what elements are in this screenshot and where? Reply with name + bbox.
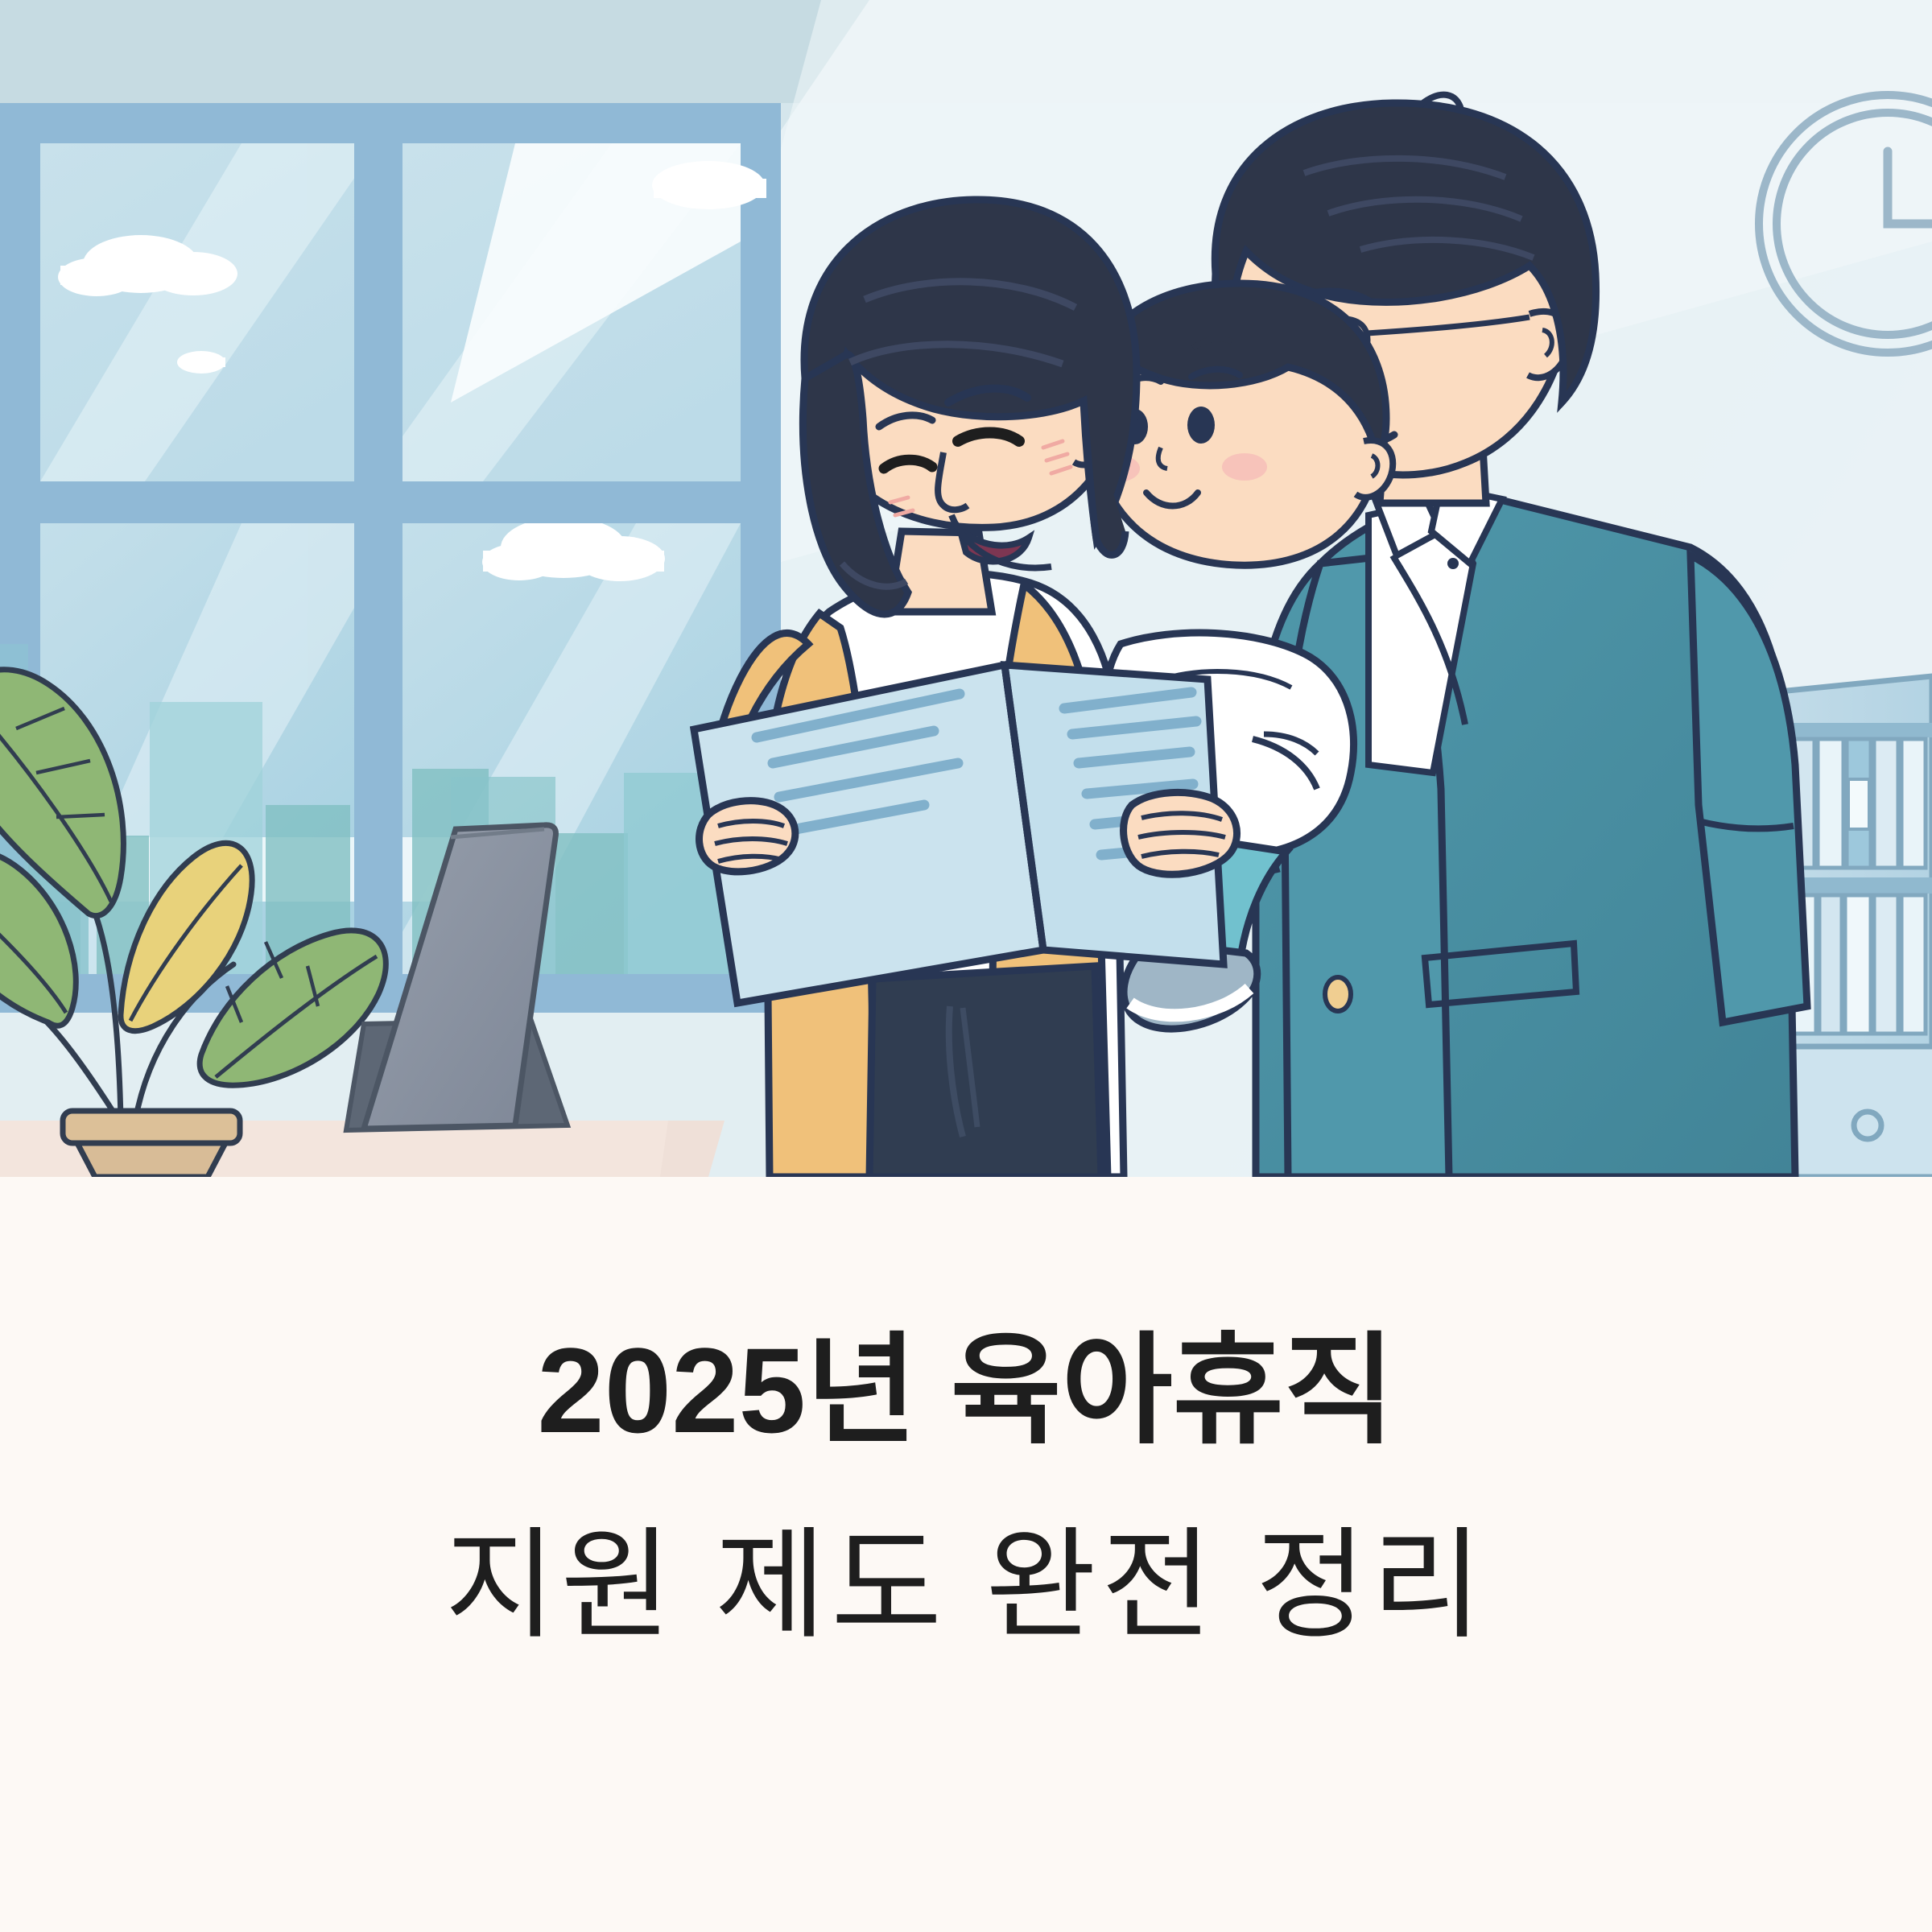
grain-overlay — [0, 0, 1932, 1177]
page-title-line-2: 지원 제도 완전 정리 — [444, 1525, 1487, 1645]
page-title-line-1: 2025년 육아휴직 — [537, 1330, 1394, 1451]
title-block: 2025년 육아휴직 지원 제도 완전 정리 — [0, 1177, 1932, 1932]
poster-card: 2025년 육아휴직 지원 제도 완전 정리 — [0, 0, 1932, 1932]
illustration-svg — [0, 0, 1932, 1177]
hero-illustration — [0, 0, 1932, 1177]
